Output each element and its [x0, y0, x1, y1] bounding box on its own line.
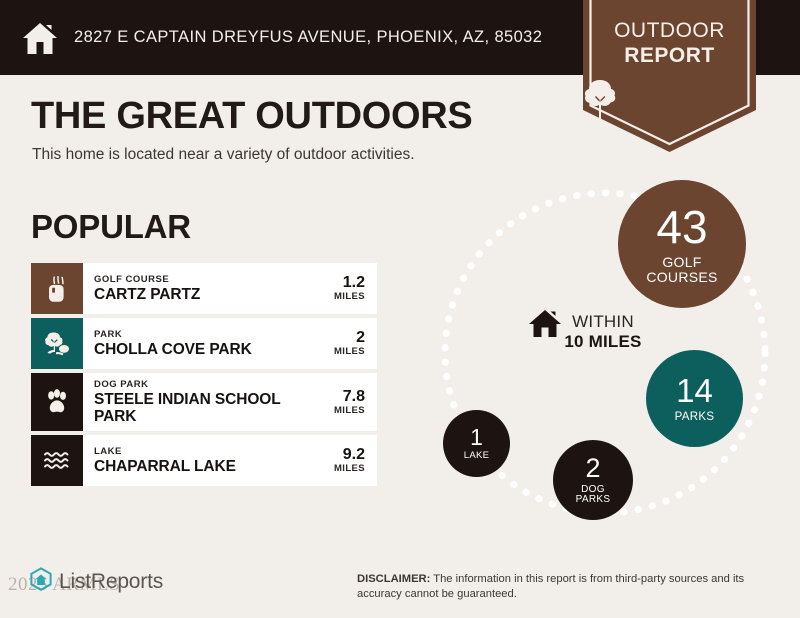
section-heading-popular: POPULAR	[31, 208, 191, 246]
page-subtitle: This home is located near a variety of o…	[32, 146, 415, 164]
list-item-name: CHOLLA COVE PARK	[94, 341, 301, 358]
list-item-category: DOG PARK	[94, 379, 301, 391]
list-item-text: DOG PARK STEELE INDIAN SCHOOL PARK	[83, 373, 301, 431]
list-item-text: LAKE CHAPARRAL LAKE	[83, 435, 301, 486]
list-item[interactable]: LAKE CHAPARRAL LAKE 9.2 MILES	[31, 435, 377, 486]
list-item-category: PARK	[94, 329, 301, 341]
distance-value: 1.2	[343, 274, 365, 291]
badge-title-line1: OUTDOOR	[583, 18, 756, 43]
list-item-distance: 2 MILES	[301, 318, 377, 369]
distance-unit: MILES	[334, 346, 365, 358]
logo-text: ListReports	[59, 570, 163, 594]
within-10-miles-bubble-chart: 43 GOLF COURSES 14 PARKS 2 DOG PARKS 1 L…	[420, 178, 800, 538]
distance-value: 7.8	[343, 388, 365, 405]
list-item[interactable]: GOLF COURSE CARTZ PARTZ 1.2 MILES	[31, 263, 377, 314]
bubble-label-line2: COURSES	[646, 270, 717, 285]
outdoor-report-badge: OUTDOOR REPORT	[583, 0, 756, 152]
disclaimer: DISCLAIMER: The information in this repo…	[357, 572, 785, 601]
bubble-value: 43	[656, 204, 707, 250]
tree-icon	[583, 78, 756, 124]
list-item[interactable]: PARK CHOLLA COVE PARK 2 MILES	[31, 318, 377, 369]
list-item-name: CARTZ PARTZ	[94, 286, 301, 303]
distance-value: 9.2	[343, 446, 365, 463]
chart-center-label: WITHIN 10 MILES	[528, 308, 678, 352]
bubble-value: 14	[676, 374, 713, 407]
bubble-label-line1: GOLF	[662, 255, 701, 270]
bubble-lake[interactable]: 1 LAKE	[443, 410, 510, 477]
header-content: 2827 E CAPTAIN DREYFUS AVENUE, PHOENIX, …	[22, 0, 542, 75]
list-item-text: PARK CHOLLA COVE PARK	[83, 318, 301, 369]
waves-icon	[31, 435, 83, 486]
list-item[interactable]: DOG PARK STEELE INDIAN SCHOOL PARK 7.8 M…	[31, 373, 377, 431]
disclaimer-label: DISCLAIMER:	[357, 573, 430, 585]
distance-unit: MILES	[334, 463, 365, 475]
bubble-dog-parks[interactable]: 2 DOG PARKS	[553, 440, 633, 520]
list-item-text: GOLF COURSE CARTZ PARTZ	[83, 263, 301, 314]
distance-unit: MILES	[334, 405, 365, 417]
property-address: 2827 E CAPTAIN DREYFUS AVENUE, PHOENIX, …	[74, 28, 542, 47]
golf-bag-icon	[31, 263, 83, 314]
distance-unit: MILES	[334, 291, 365, 303]
list-item-distance: 7.8 MILES	[301, 373, 377, 431]
listreports-logo[interactable]: ListReports	[28, 566, 163, 597]
list-item-category: LAKE	[94, 446, 301, 458]
list-item-name: CHAPARRAL LAKE	[94, 458, 301, 475]
list-item-distance: 9.2 MILES	[301, 435, 377, 486]
home-icon	[22, 21, 58, 55]
bubble-value: 1	[470, 426, 483, 449]
house-logo-icon	[28, 566, 54, 597]
bubble-label-line2: PARKS	[576, 495, 611, 506]
trees-icon	[31, 318, 83, 369]
bubble-label-line1: LAKE	[464, 451, 490, 461]
badge-title: OUTDOOR REPORT	[583, 18, 756, 68]
list-item-distance: 1.2 MILES	[301, 263, 377, 314]
list-item-category: GOLF COURSE	[94, 274, 301, 286]
bubble-value: 2	[585, 455, 600, 482]
bubble-label-line1: PARKS	[675, 411, 715, 423]
popular-list: GOLF COURSE CARTZ PARTZ 1.2 MILES PARK C…	[31, 263, 377, 490]
paw-icon	[31, 373, 83, 431]
badge-title-line2: REPORT	[583, 43, 756, 68]
distance-value: 2	[356, 329, 365, 346]
list-item-name: STEELE INDIAN SCHOOL PARK	[94, 391, 301, 425]
bubble-golf-courses[interactable]: 43 GOLF COURSES	[618, 180, 746, 308]
page-title: THE GREAT OUTDOORS	[31, 95, 472, 138]
bubble-parks[interactable]: 14 PARKS	[646, 350, 743, 447]
